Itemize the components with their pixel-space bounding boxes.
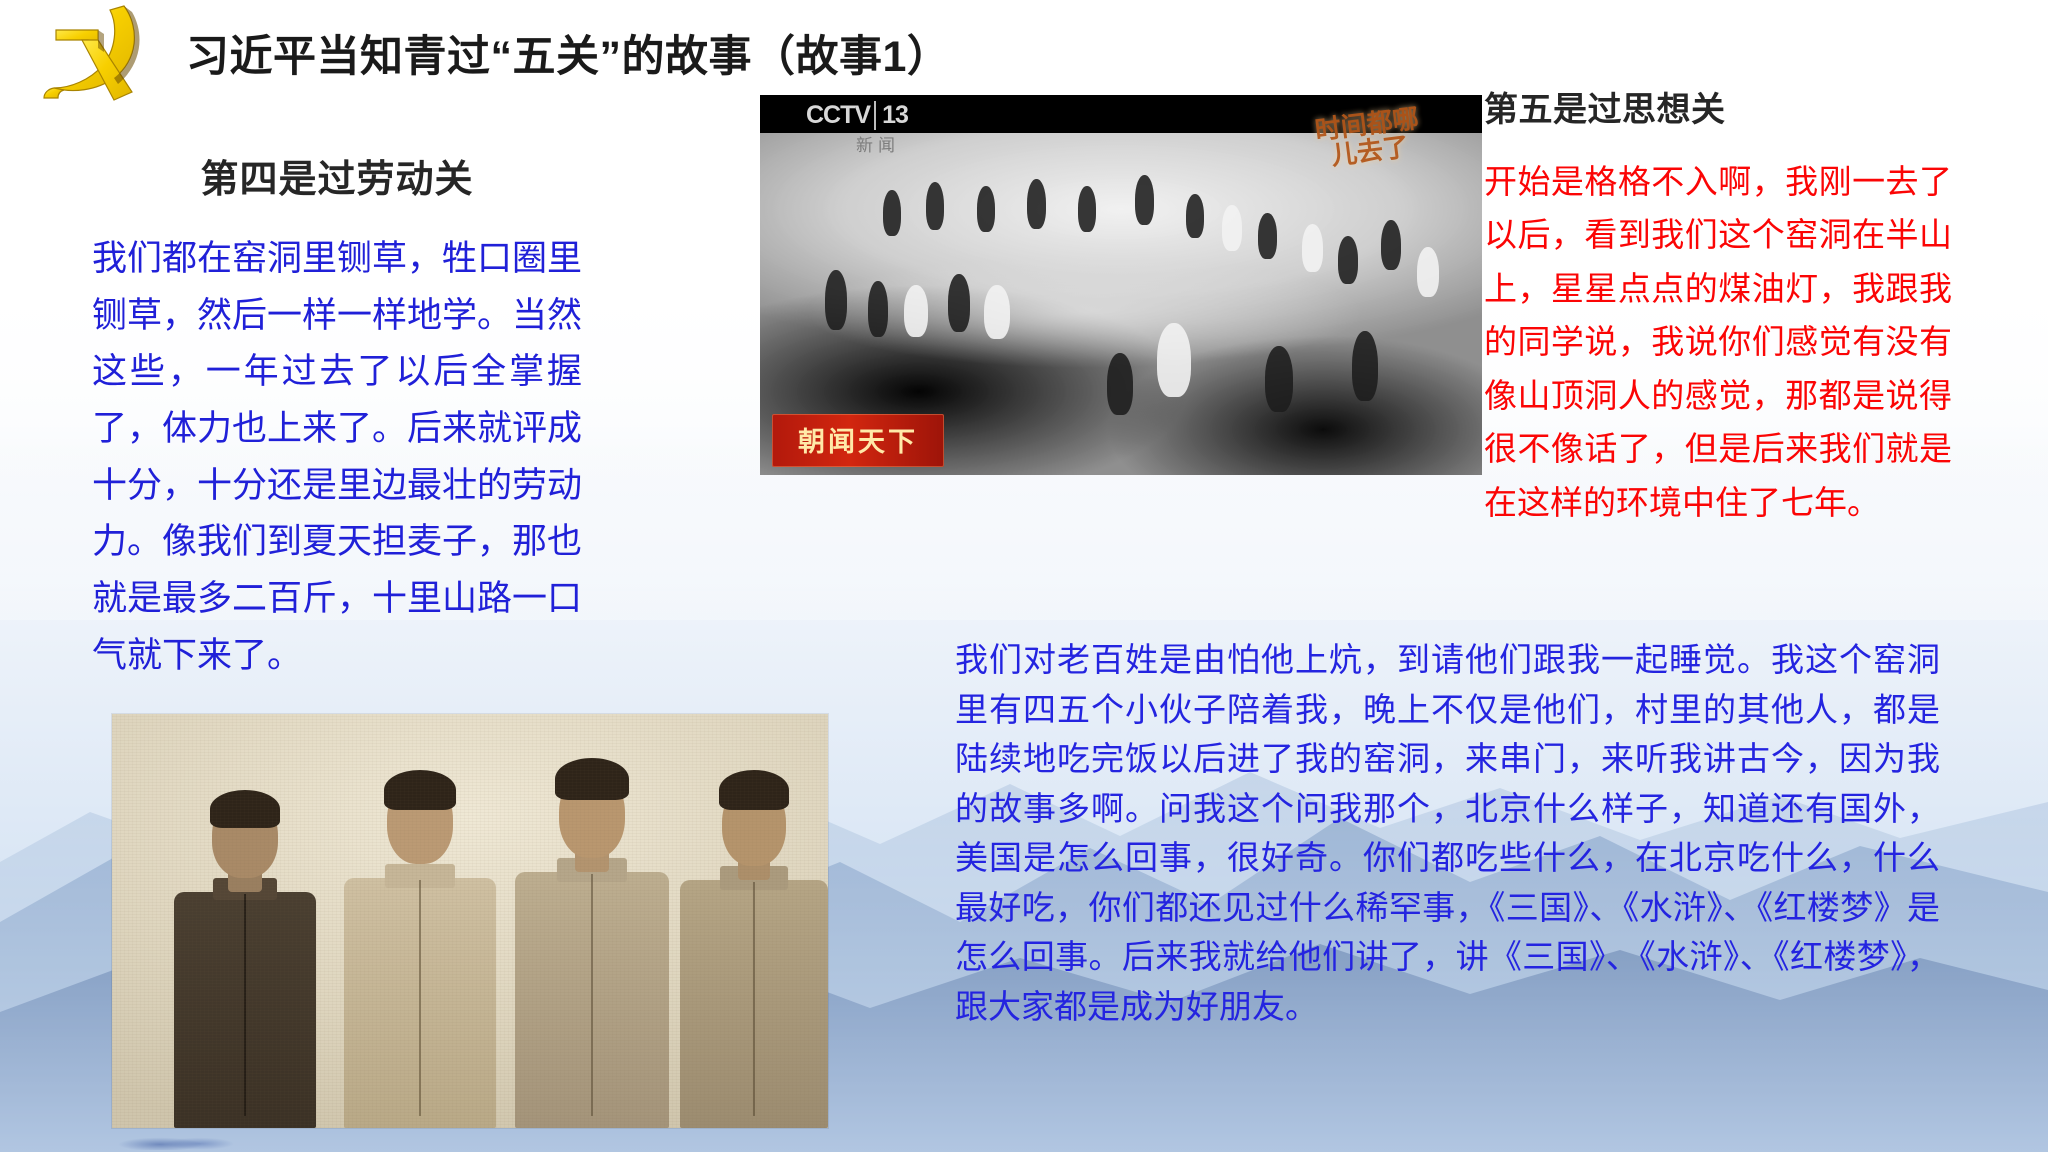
cctv-channel-sub: 新闻 [856,131,900,156]
section-body-fifth: 开始是格格不入啊，我刚一去了以后，看到我们这个窑洞在半山上，星星点点的煤油灯，我… [1484,157,1952,531]
lower-third-label: 朝闻天下 [798,427,918,457]
historical-group-photo [112,714,828,1128]
cctv-channel-name: CCTV [806,101,870,129]
section-body-fourth: 我们都在窑洞里铡草，牲口圈里铡草，然后一样一样地学。当然这些，一年过去了以后全掌… [92,231,582,685]
cctv-channel-number: 13 [874,101,908,130]
photo-grain-overlay [112,714,828,1128]
cctv-video-still: CCTV13 新闻 时间都哪儿去了 朝闻天下 [760,95,1482,475]
cpc-emblem-icon [28,0,160,108]
slide-header: 习近平当知青过“五关”的故事（故事1） [0,0,1200,92]
wide-body-paragraph: 我们对老百姓是由怕他上炕，到请他们跟我一起睡觉。我这个窑洞里有四五个小伙子陪着我… [955,635,1940,1031]
left-text-column: 第四是过劳动关 我们都在窑洞里铡草，牲口圈里铡草，然后一样一样地学。当然这些，一… [92,148,582,685]
right-text-column: 第五是过思想关 开始是格格不入啊，我刚一去了以后，看到我们这个窑洞在半山上，星星… [1484,82,1952,531]
section-heading-fifth: 第五是过思想关 [1484,82,1952,131]
program-logo: 时间都哪儿去了 [1306,104,1435,198]
lower-third-banner: 朝闻天下 [772,414,944,467]
section-heading-fourth: 第四是过劳动关 [92,148,582,203]
cctv-channel-logo: CCTV13 [806,101,908,130]
page-title: 习近平当知青过“五关”的故事（故事1） [186,22,950,84]
slide-root: 习近平当知青过“五关”的故事（故事1） 第四是过劳动关 我们都在窑洞里铡草，牲口… [0,0,2048,1152]
bottom-ornament [118,1136,238,1150]
